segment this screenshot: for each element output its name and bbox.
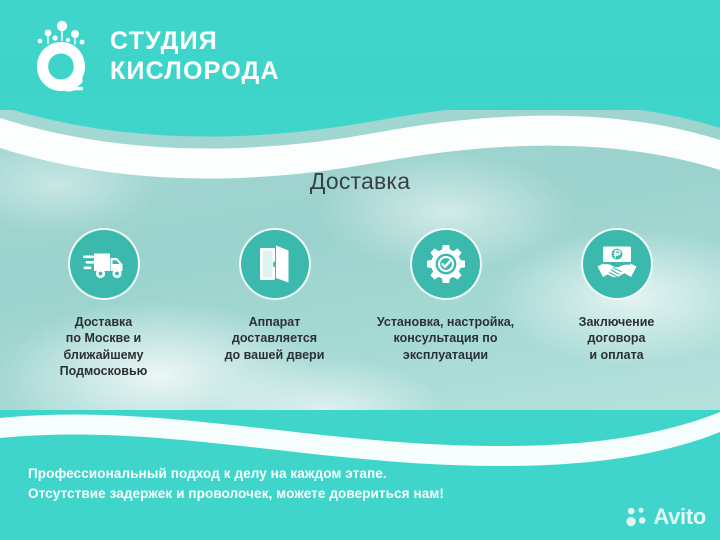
avito-dots-icon	[626, 506, 648, 528]
handshake-money-icon	[581, 228, 653, 300]
feature-item-door: Аппарат доставляется до вашей двери	[189, 228, 360, 363]
gear-check-glyph	[426, 244, 466, 284]
avito-watermark: Avito	[626, 504, 706, 530]
feature-item-delivery: Доставка по Москве и ближайшему Подмоско…	[18, 228, 189, 379]
feature-caption: Заключение договора и оплата	[579, 314, 655, 363]
footer-tagline: Профессиональный подход к делу на каждом…	[28, 464, 444, 504]
brand-name-line-2: КИСЛОРОДА	[110, 59, 280, 84]
delivery-truck-icon	[68, 228, 140, 300]
feature-list: Доставка по Москве и ближайшему Подмоско…	[18, 228, 702, 379]
open-door-glyph	[258, 245, 292, 283]
feature-caption: Доставка по Москве и ближайшему Подмоско…	[60, 314, 148, 379]
open-door-icon	[239, 228, 311, 300]
feature-item-setup: Установка, настройка, консультация по эк…	[360, 228, 531, 363]
delivery-truck-glyph	[83, 247, 125, 281]
brand-logo: СТУДИЯ КИСЛОРОДА	[30, 20, 280, 92]
feature-caption: Установка, настройка, консультация по эк…	[377, 314, 514, 363]
feature-item-contract: Заключение договора и оплата	[531, 228, 702, 363]
promo-banner: СТУДИЯ КИСЛОРОДА Доставка	[0, 0, 720, 540]
oxygen-o2-bubbles-icon	[30, 20, 96, 92]
handshake-money-glyph	[596, 245, 638, 283]
section-title: Доставка	[0, 168, 720, 195]
gear-check-icon	[410, 228, 482, 300]
brand-name-line-1: СТУДИЯ	[110, 29, 280, 54]
avito-label: Avito	[653, 504, 706, 530]
feature-caption: Аппарат доставляется до вашей двери	[225, 314, 325, 363]
